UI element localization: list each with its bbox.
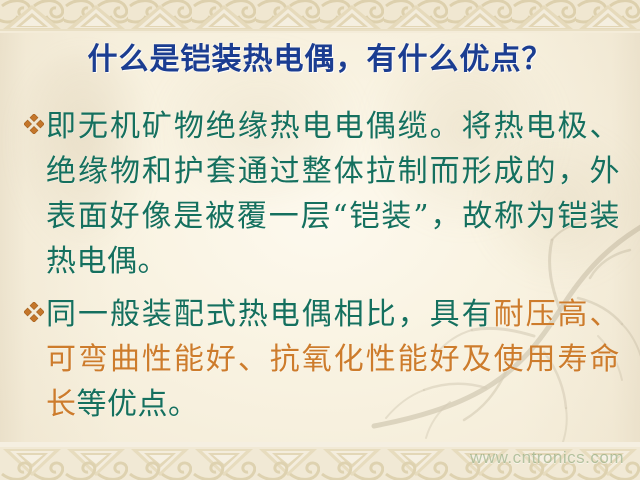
bullet-text: 同一般装配式热电偶相比，具有耐压高、可弯曲性能好、抗氧化性能好及使用寿命长等优点… [46, 292, 620, 427]
slide-canvas: 什么是铠装热电偶，有什么优点？ 即无机矿物绝缘热电电偶缆。将热电极、绝缘物和护套… [0, 0, 640, 480]
bullet-segment: 同一般装配式热电偶相比，具有 [46, 297, 494, 332]
top-decorative-border [0, 0, 640, 33]
page-title: 什么是铠装热电偶，有什么优点？ [0, 40, 640, 80]
site-watermark: www.cntronics.com [470, 448, 624, 468]
diamond-cluster-bullet-icon [24, 298, 46, 334]
diamond-cluster-bullet-icon [24, 110, 46, 146]
bullet-segment: 等优点。 [77, 387, 199, 422]
bullet-item: 即无机矿物绝缘热电电偶缆。将热电极、绝缘物和护套通过整体拉制而形成的，外表面好像… [24, 104, 620, 284]
slide-body: 即无机矿物绝缘热电电偶缆。将热电极、绝缘物和护套通过整体拉制而形成的，外表面好像… [24, 104, 620, 433]
bullet-segment: 即无机矿物绝缘热电电偶缆。将热电极、绝缘物和护套通过整体拉制而形成的，外表面好像… [46, 109, 620, 279]
bullet-text: 即无机矿物绝缘热电电偶缆。将热电极、绝缘物和护套通过整体拉制而形成的，外表面好像… [46, 104, 620, 284]
bullet-item: 同一般装配式热电偶相比，具有耐压高、可弯曲性能好、抗氧化性能好及使用寿命长等优点… [24, 292, 620, 427]
